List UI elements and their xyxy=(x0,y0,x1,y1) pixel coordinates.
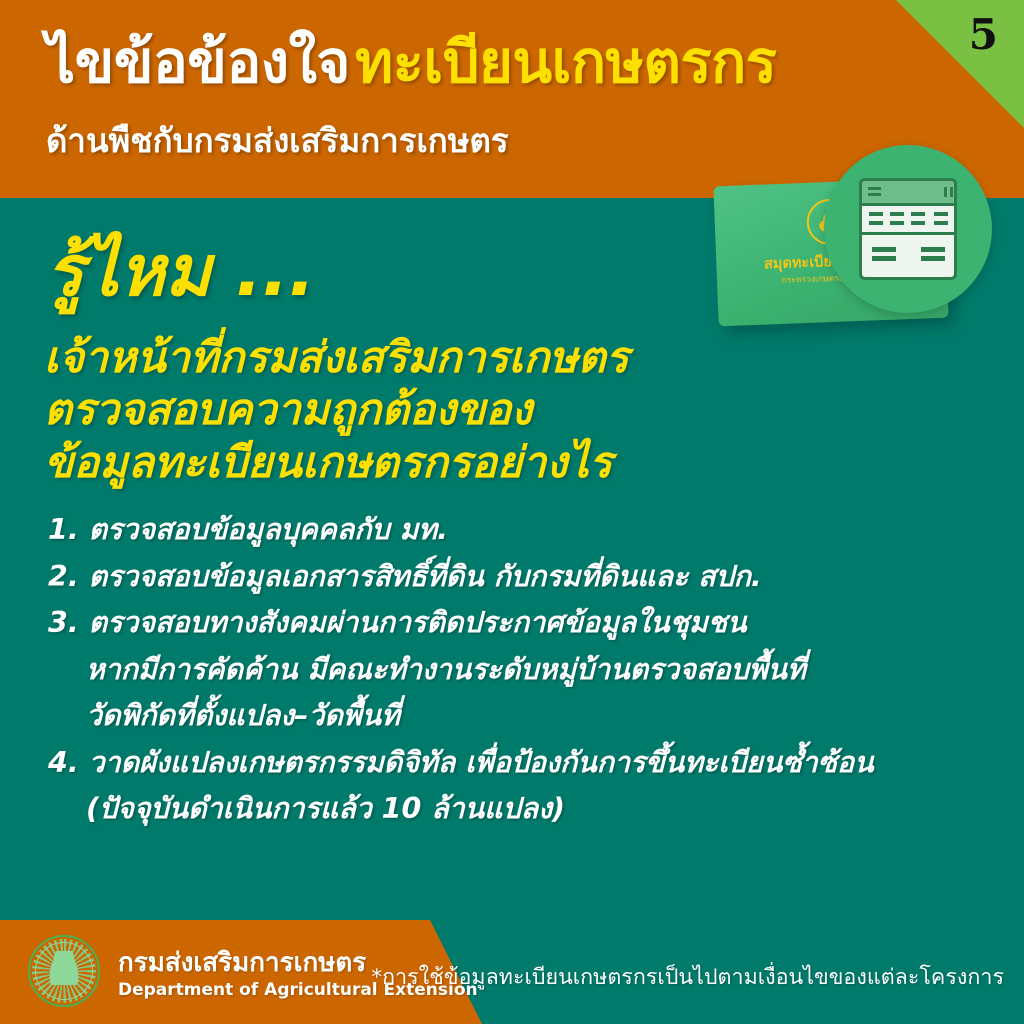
lead-line-1: เจ้าหน้าที่กรมส่งเสริมการเกษตร xyxy=(44,332,944,384)
form-footer-strip xyxy=(862,235,954,273)
form-header-strip xyxy=(862,181,954,206)
footnote-text: *การใช้ข้อมูลทะเบียนเกษตรกรเป็นไปตามเงื่… xyxy=(371,960,1004,994)
form-row-strip xyxy=(862,206,954,235)
header-title-yellow: ทะเบียนเกษตรกร xyxy=(355,28,776,96)
lead-line-3: ข้อมูลทะเบียนเกษตรกรอย่างไร xyxy=(44,437,944,489)
doae-emblem-icon xyxy=(28,935,100,1007)
form-document-glyph xyxy=(859,178,957,280)
list-item: 3. ตรวจสอบทางสังคมผ่านการติดประกาศข้อมูล… xyxy=(48,609,978,638)
lead-line-2: ตรวจสอบความถูกต้องของ xyxy=(44,384,944,436)
lead-paragraph: เจ้าหน้าที่กรมส่งเสริมการเกษตร ตรวจสอบคว… xyxy=(44,332,944,489)
slide-number-badge: 5 xyxy=(969,14,998,56)
list-item: หากมีการคัดค้าน มีคณะทำงานระดับหมู่บ้านต… xyxy=(86,656,978,685)
steps-list: 1. ตรวจสอบข้อมูลบุคคลกับ มท. 2. ตรวจสอบข… xyxy=(48,516,978,842)
list-item: วัดพิกัดที่ตั้งแปลง–วัดพื้นที่ xyxy=(86,702,978,731)
list-item-note: (ปัจจุบันดำเนินการแล้ว 10 ล้านแปลง) xyxy=(86,795,978,824)
header-title-white: ไขข้อข้องใจ xyxy=(46,28,350,96)
header-title: ไขข้อข้องใจ ทะเบียนเกษตรกร xyxy=(46,33,776,91)
list-item: 1. ตรวจสอบข้อมูลบุคคลกับ มท. xyxy=(48,516,978,545)
registration-form-icon xyxy=(824,145,992,313)
emblem-core xyxy=(48,951,80,985)
infographic-poster: 5 ไขข้อข้องใจ ทะเบียนเกษตรกร ด้านพืชกับก… xyxy=(0,0,1024,1024)
list-item: 2. ตรวจสอบข้อมูลเอกสารสิทธิ์ที่ดิน กับกร… xyxy=(48,563,978,592)
know-question-heading: รู้ไหม ... xyxy=(46,236,315,306)
list-item: 4. วาดผังแปลงเกษตรกรรมดิจิทัล เพื่อป้องก… xyxy=(48,749,978,778)
header-subtitle: ด้านพืชกับกรมส่งเสริมการเกษตร xyxy=(46,124,509,157)
